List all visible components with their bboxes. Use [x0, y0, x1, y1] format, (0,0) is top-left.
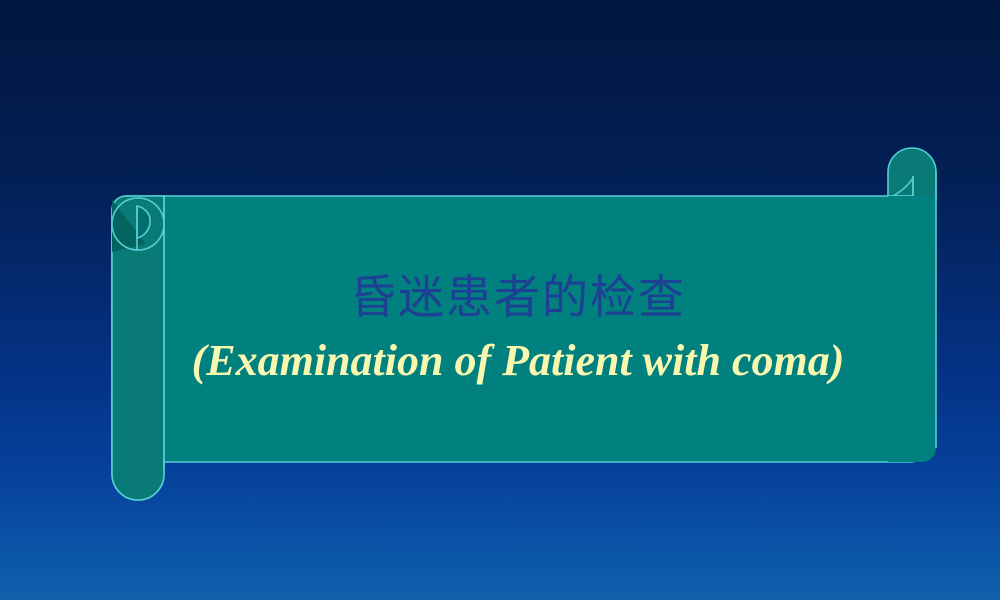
right-scroll-curl	[888, 148, 936, 200]
right-scroll-strip	[888, 172, 936, 462]
slide-canvas: 昏迷患者的检查 (Examination of Patient with com…	[0, 0, 1000, 600]
scroll-banner	[0, 0, 1000, 600]
banner-panel	[112, 196, 924, 462]
left-scroll-curl	[112, 196, 164, 500]
scroll-banner-graphic	[0, 0, 1000, 600]
